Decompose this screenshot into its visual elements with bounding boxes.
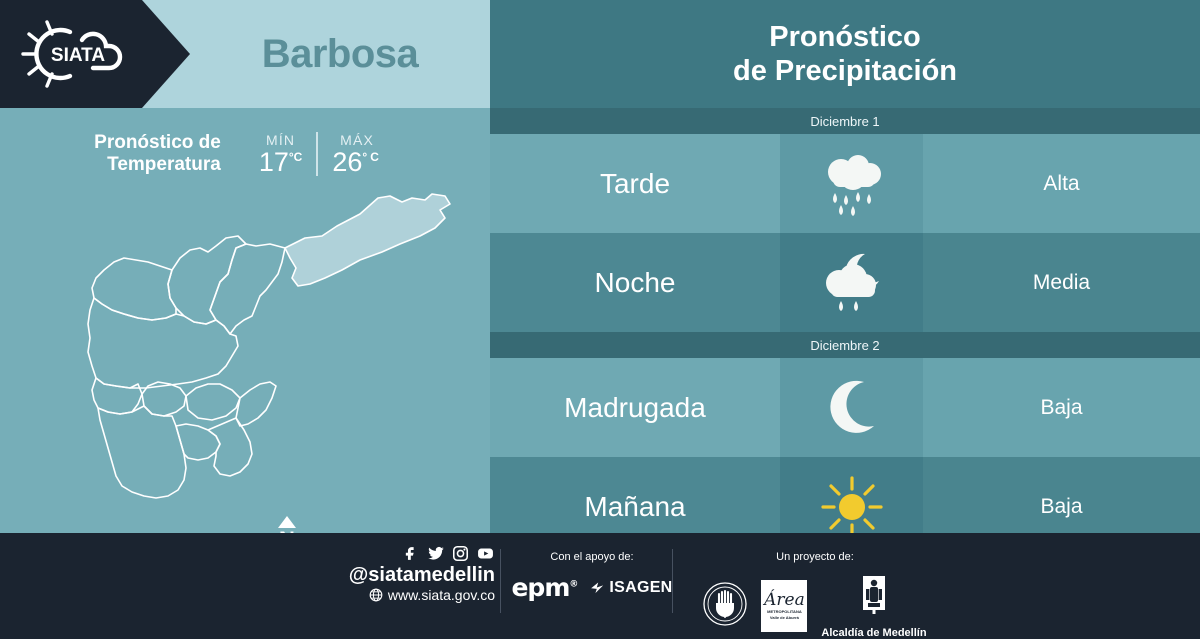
area-logo-sub2: Valle de Aburrá (770, 615, 799, 620)
left-panel: SIATA Barbosa Pronóstico de Temperatura … (0, 0, 490, 533)
siata-logo-text: SIATA (51, 45, 105, 66)
area-logo-text: Área (764, 592, 805, 609)
precipitation-panel: Pronóstico de Precipitación Diciembre 1 … (490, 0, 1200, 533)
icon-cell (780, 134, 923, 233)
icon-cell (780, 233, 923, 332)
probability-label: Baja (1040, 396, 1082, 420)
footer: @siatamedellin www.siata.gov.co Con el a… (0, 533, 1200, 630)
probability-cell: Baja (923, 358, 1200, 457)
forecast-row: Tarde (490, 134, 1200, 233)
isagen-logo: ISAGEN (589, 579, 672, 597)
forecast-row: Noche Media (490, 233, 1200, 332)
probability-label: Alta (1043, 172, 1079, 196)
twitter-icon[interactable] (427, 545, 445, 562)
support-block: Con el apoyo de: epm® ISAGEN (512, 551, 672, 602)
social-icons (330, 545, 495, 562)
icon-cell (780, 358, 923, 457)
date-separator-day1: Diciembre 1 (490, 108, 1200, 134)
max-unit: °C (362, 150, 381, 164)
weather-forecast-infographic: SIATA Barbosa Pronóstico de Temperatura … (0, 0, 1200, 630)
temperature-values: MÍN 17°C MÁX 26°C (245, 132, 396, 176)
temperature-title: Pronóstico de Temperatura (94, 132, 221, 177)
alcaldia-label: Alcaldía de Medellín (821, 627, 926, 639)
website-link[interactable]: www.siata.gov.co (330, 586, 495, 604)
probability-cell: Media (923, 233, 1200, 332)
period-label: Madrugada (564, 392, 706, 424)
instagram-icon[interactable] (452, 545, 469, 562)
max-label: MÁX (332, 132, 382, 148)
moon-rain-cloud-icon (815, 250, 889, 316)
probability-label: Media (1033, 271, 1090, 295)
aburra-valley-map: N (0, 186, 490, 533)
temperature-forecast: Pronóstico de Temperatura MÍN 17°C MÁX 2… (0, 122, 490, 186)
udea-seal-icon (703, 582, 747, 626)
footer-divider-2 (672, 549, 673, 613)
period-cell: Tarde (490, 134, 780, 233)
facebook-icon[interactable] (403, 545, 420, 562)
website-text: www.siata.gov.co (388, 586, 495, 604)
map-region-highlighted (285, 194, 450, 286)
project-logos: Área METROPOLITANA Valle de Aburrá (700, 573, 930, 639)
min-label: MÍN (259, 132, 303, 148)
sun-cloud-icon: SIATA (18, 14, 138, 94)
project-caption: Un proyecto de: (700, 551, 930, 563)
min-value-wrap: 17°C (259, 149, 303, 176)
precipitation-title-line2: de Precipitación (733, 54, 957, 88)
precipitation-title-line1: Pronóstico (769, 20, 920, 54)
globe-icon (369, 588, 383, 602)
footer-divider-1 (500, 549, 501, 613)
forecast-row: Madrugada Baja (490, 358, 1200, 457)
epm-logo: epm® (511, 573, 577, 602)
min-value: 17 (259, 147, 289, 177)
min-unit: °C (289, 150, 302, 164)
youtube-icon[interactable] (476, 545, 495, 562)
isagen-mark-icon (589, 579, 606, 596)
period-cell: Madrugada (490, 358, 780, 457)
left-header: SIATA Barbosa (0, 0, 490, 108)
max-temperature: MÁX 26°C (318, 132, 396, 176)
alcaldia-medellin-logo: Alcaldía de Medellín (821, 573, 926, 639)
alcaldia-crest-icon (858, 573, 890, 619)
precipitation-title: Pronóstico de Precipitación (490, 0, 1200, 108)
sun-icon (819, 474, 885, 540)
social-handle[interactable]: @siatamedellin (330, 564, 495, 586)
period-cell: Noche (490, 233, 780, 332)
rain-cloud-icon (815, 151, 889, 217)
map-svg (60, 186, 460, 533)
period-label: Tarde (600, 168, 670, 200)
support-caption: Con el apoyo de: (512, 551, 672, 563)
min-temperature: MÍN 17°C (245, 132, 319, 176)
support-logos: epm® ISAGEN (512, 573, 672, 602)
max-value-wrap: 26°C (332, 149, 382, 176)
udea-seal-logo (703, 582, 747, 631)
date-separator-day2: Diciembre 2 (490, 332, 1200, 358)
project-block: Un proyecto de: Área METROPOLITANA (700, 551, 930, 639)
temperature-map-panel: Pronóstico de Temperatura MÍN 17°C MÁX 2… (0, 108, 490, 533)
probability-label: Baja (1040, 495, 1082, 519)
siata-logo-badge: SIATA (0, 0, 190, 108)
period-label: Mañana (584, 491, 685, 523)
page-title: Barbosa (190, 0, 490, 108)
probability-cell: Alta (923, 134, 1200, 233)
social-block: @siatamedellin www.siata.gov.co (330, 545, 495, 605)
max-value: 26 (332, 147, 362, 177)
area-metropolitana-logo: Área METROPOLITANA Valle de Aburrá (761, 580, 807, 632)
period-label: Noche (595, 267, 676, 299)
moon-icon (820, 376, 884, 440)
